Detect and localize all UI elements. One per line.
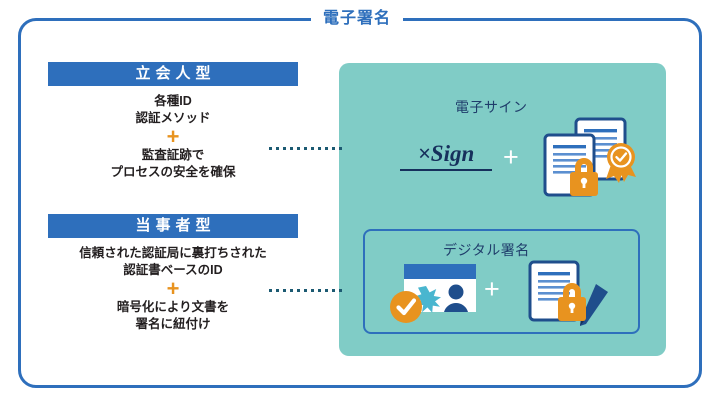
digital-signature-row: +: [388, 262, 623, 328]
block-witness-type-body: 各種ID 認証メソッド + 監査証跡で プロセスの安全を確保: [48, 93, 298, 181]
block-line: 各種ID: [48, 93, 298, 110]
signature-mark: ×Sign: [400, 141, 492, 171]
block-party-type: 当事者型 信頼された認証局に裏打ちされた 認証書ベースのID + 暗号化により文…: [48, 214, 298, 333]
block-line: 監査証跡で: [48, 147, 298, 164]
connector-dotted-line: [269, 147, 345, 150]
block-party-type-header: 当事者型: [48, 214, 298, 238]
documents-with-lock-icon: [535, 117, 645, 210]
block-witness-type-header: 立会人型: [48, 62, 298, 86]
plus-icon: +: [503, 144, 519, 171]
plus-icon: +: [48, 280, 298, 298]
page-title: 電子署名: [311, 6, 403, 32]
block-witness-type: 立会人型 各種ID 認証メソッド + 監査証跡で プロセスの安全を確保: [48, 62, 298, 181]
block-line: 信頼された認証局に裏打ちされた: [48, 245, 298, 262]
connector-dotted-line: [269, 289, 345, 292]
electronic-sign-label: 電子サイン: [455, 97, 528, 117]
block-line: 暗号化により文書を: [48, 299, 298, 316]
block-line: 署名に紐付け: [48, 316, 298, 333]
id-card-verified-icon: [388, 262, 480, 331]
block-party-type-body: 信頼された認証局に裏打ちされた 認証書ベースのID + 暗号化により文書を 署名…: [48, 245, 298, 333]
verified-check-icon: [390, 291, 422, 323]
block-line: プロセスの安全を確保: [48, 164, 298, 181]
electronic-sign-row: ×Sign +: [395, 125, 650, 195]
plus-icon: +: [484, 276, 500, 303]
document-lock-pen-icon: [524, 260, 618, 335]
digital-signature-label: デジタル署名: [443, 240, 530, 260]
plus-icon: +: [48, 128, 298, 146]
